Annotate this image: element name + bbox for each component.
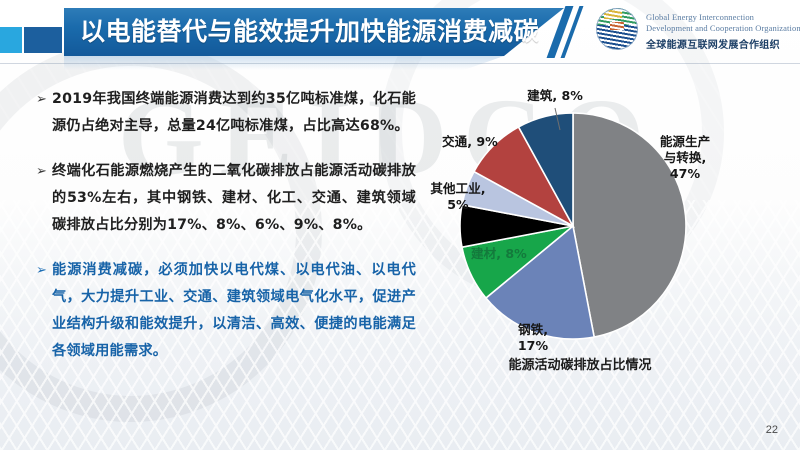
pie-chart-svg [420, 86, 800, 386]
pie-label-other-industry-line1: 其他工业, [420, 181, 496, 197]
bullet-text-2: 终端化石能源燃烧产生的二氧化碳排放占能源活动碳排放的53%左右，其中钢铁、建材、… [52, 158, 416, 239]
pie-chart: 建筑, 8% 交通, 9% 其他工业, 5% 建材, 8% 能源生产 与转换, … [420, 86, 800, 386]
logo-en-line-2: Development and Cooperation Organization [646, 23, 800, 34]
slide: GEIDCO 以电能替代与能效提升加快能源消费减碳 Global Energy … [0, 0, 800, 450]
pie-label-transport: 交通, 9% [442, 134, 498, 150]
logo-cn-name: 全球能源互联网发展合作组织 [646, 36, 800, 51]
bullet-arrow-icon: ➢ [36, 86, 52, 140]
bullet-arrow-icon: ➢ [36, 257, 52, 365]
bullet-text-3: 能源消费减碳，必须加快以电代煤、以电代油、以电代气，大力提升工业、交通、建筑领域… [52, 257, 416, 365]
page-number: 22 [766, 424, 778, 436]
header-accent-square-blue [24, 27, 62, 53]
pie-label-steel-line2: 17% [498, 338, 568, 354]
bullet-item-3: ➢ 能源消费减碳，必须加快以电代煤、以电代油、以电代气，大力提升工业、交通、建筑… [36, 257, 416, 365]
header-divider [0, 63, 800, 64]
pie-label-energy-production-line2: 与转换, [640, 150, 730, 166]
page-title: 以电能替代与能效提升加快能源消费减碳 [80, 12, 539, 48]
bullet-item-1: ➢ 2019年我国终端能源消费达到约35亿吨标准煤，化石能源仍占绝对主导，总量2… [36, 86, 416, 140]
bullet-arrow-icon: ➢ [36, 158, 52, 239]
geidco-globe-icon [596, 8, 638, 50]
pie-label-energy-production-line3: 47% [640, 166, 730, 182]
organization-logo-text: Global Energy Interconnection Developmen… [646, 12, 800, 51]
pie-label-energy-production-line1: 能源生产 [640, 134, 730, 150]
bullet-list: ➢ 2019年我国终端能源消费达到约35亿吨标准煤，化石能源仍占绝对主导，总量2… [36, 86, 416, 383]
pie-label-steel-line1: 钢铁, [498, 322, 568, 338]
logo-en-line-1: Global Energy Interconnection [646, 12, 800, 23]
bullet-text-1: 2019年我国终端能源消费达到约35亿吨标准煤，化石能源仍占绝对主导，总量24亿… [52, 86, 416, 140]
chart-caption: 能源活动碳排放占比情况 [420, 354, 740, 373]
bullet-item-2: ➢ 终端化石能源燃烧产生的二氧化碳排放占能源活动碳排放的53%左右，其中钢铁、建… [36, 158, 416, 239]
pie-label-construction: 建筑, 8% [510, 88, 600, 104]
pie-label-other-industry-line2: 5% [420, 197, 496, 213]
slide-header: 以电能替代与能效提升加快能源消费减碳 Global Energy Interco… [0, 0, 800, 64]
pie-label-building-materials: 建材, 8% [471, 246, 527, 262]
header-accent-square-cyan [0, 27, 22, 53]
